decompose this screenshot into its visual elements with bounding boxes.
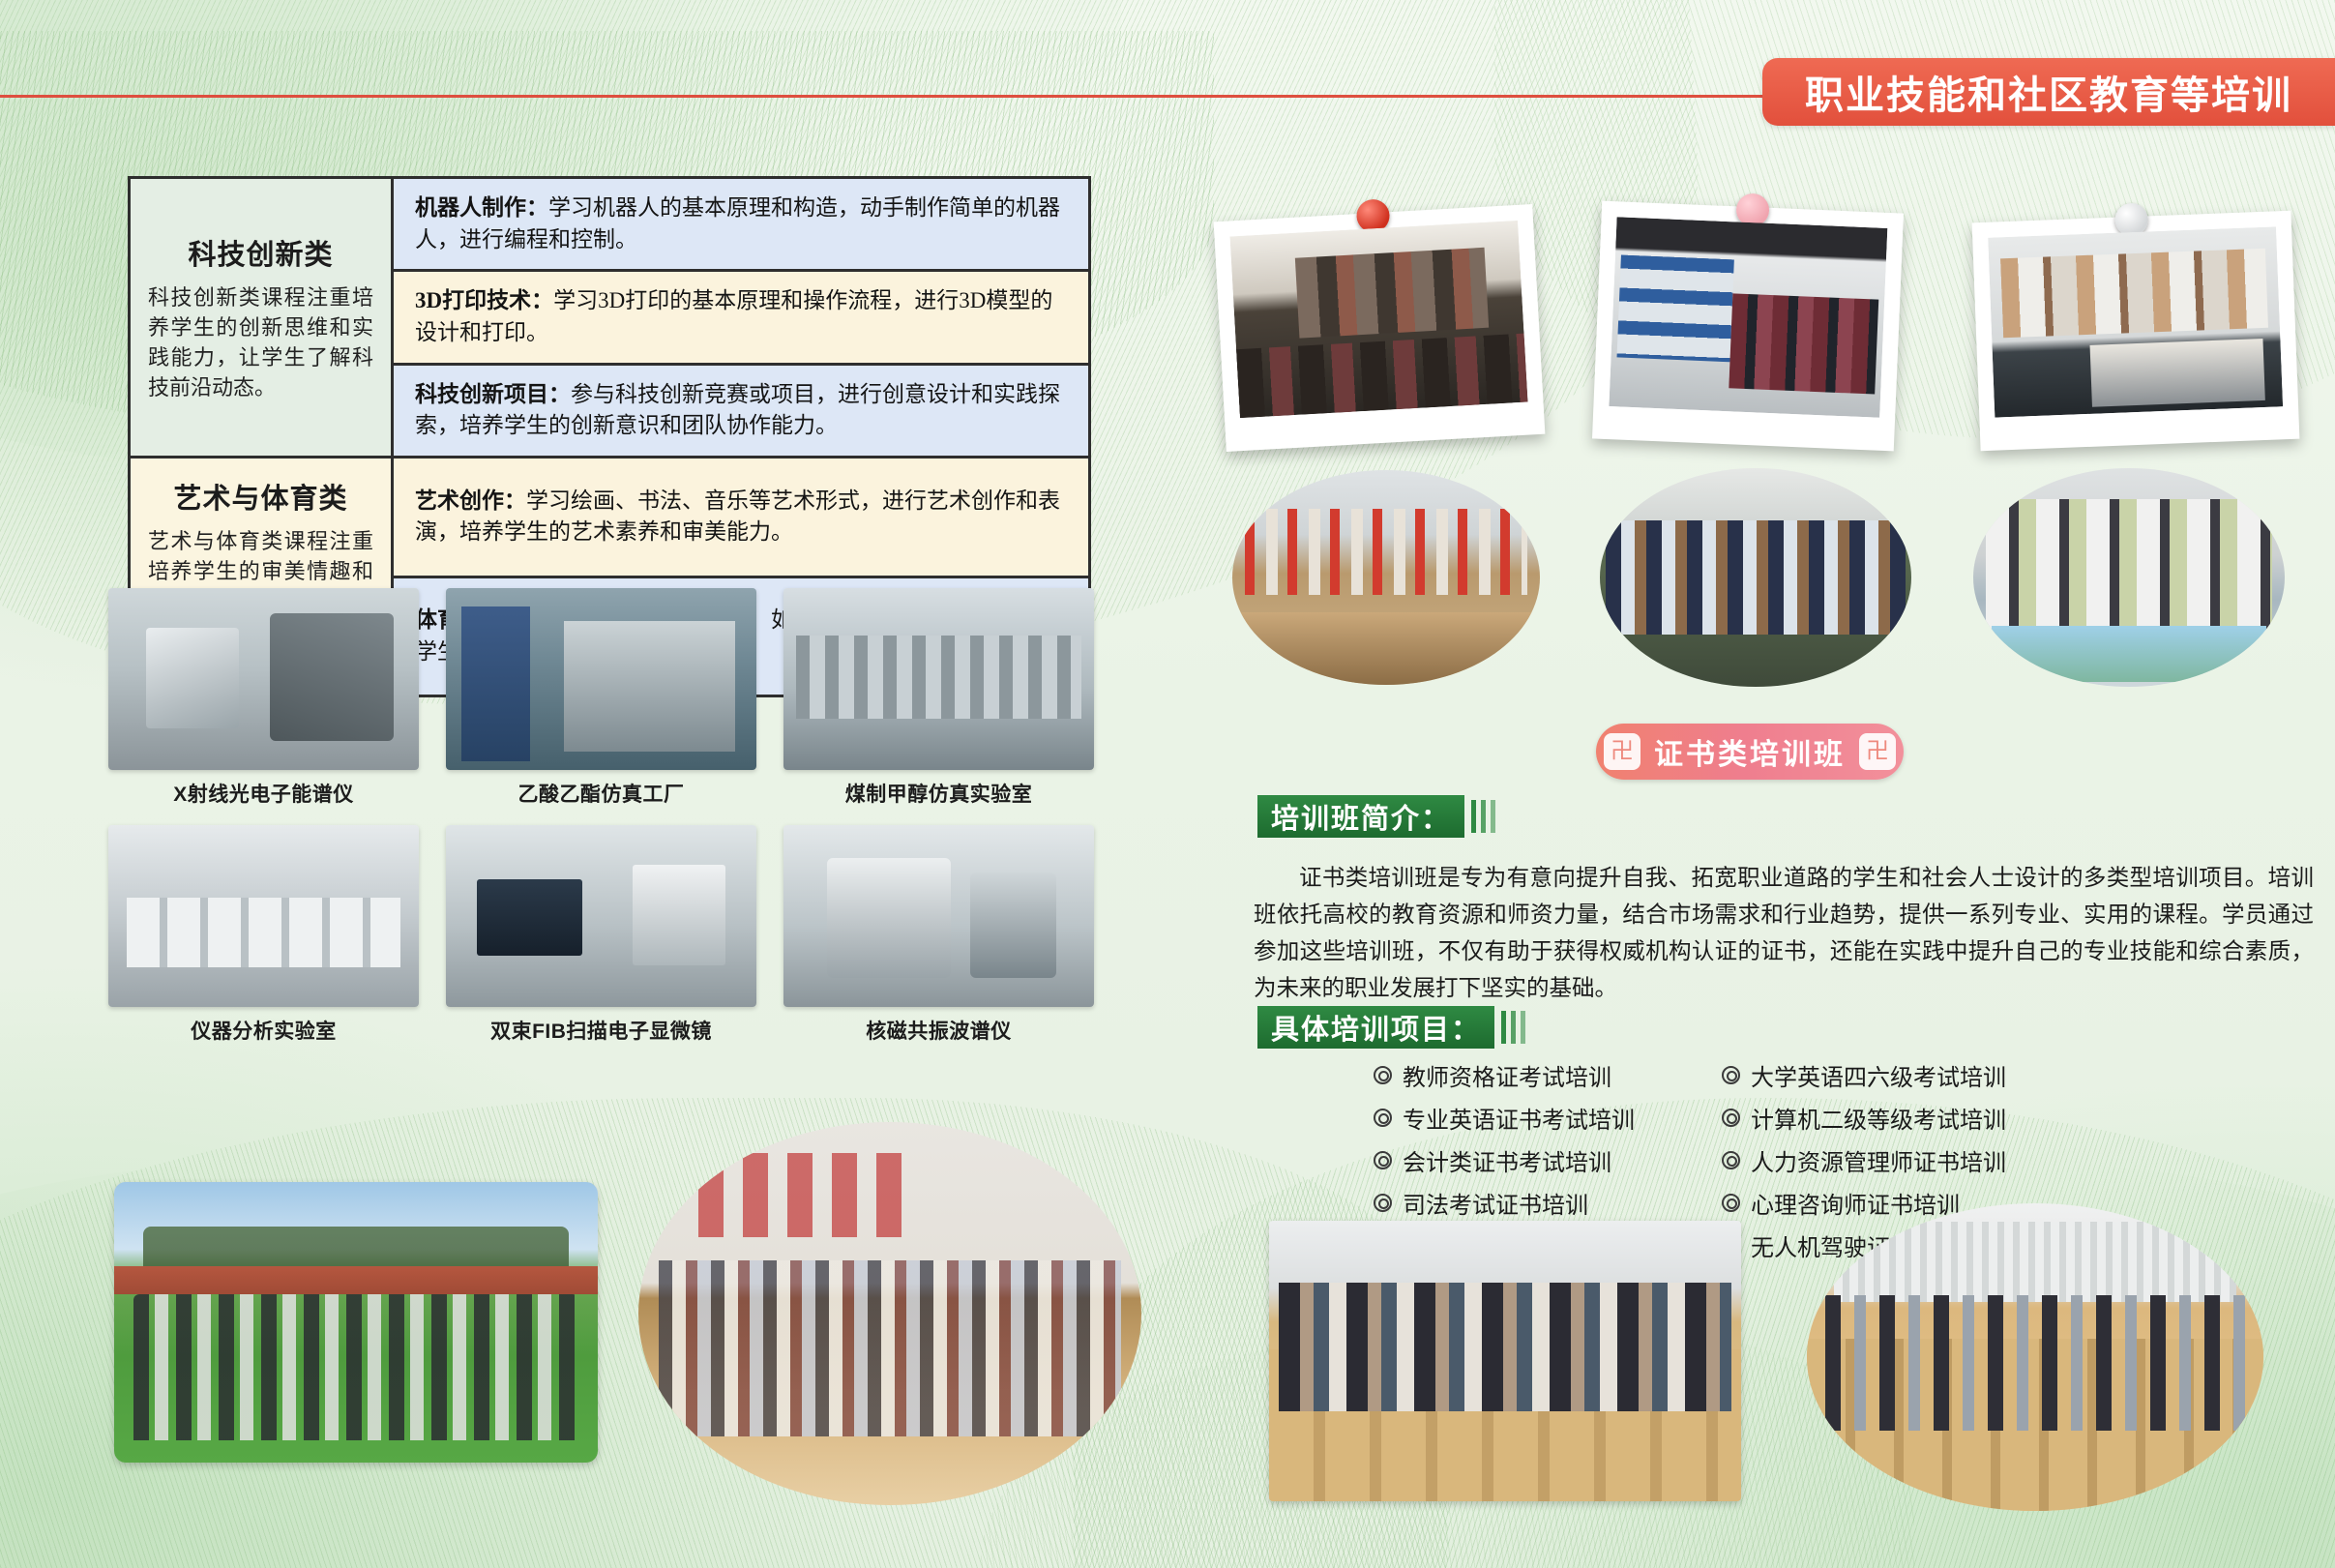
double-circle-bullet-icon — [1722, 1109, 1740, 1127]
list-item-label: 专业英语证书考试培训 — [1403, 1101, 1635, 1135]
lab-photo-caption: 煤制甲醇仿真实验室 — [783, 779, 1094, 808]
oval-art-painting-workshop — [1973, 468, 2285, 687]
lab-photo-caption: 乙酸乙酯仿真工厂 — [446, 779, 756, 808]
ornament-left-icon: 卍 — [1604, 733, 1640, 770]
lab-gallery-cell: 仪器分析实验室 — [108, 825, 419, 1045]
heading-bars-icon — [1501, 1006, 1525, 1049]
activity-oval-photo-row — [1230, 466, 2323, 691]
list-item: 教师资格证考试培训 — [1374, 1058, 1702, 1092]
item-title: 3D打印技术： — [415, 288, 553, 312]
section-heading-label: 培训班简介： — [1257, 795, 1464, 838]
lab-gallery-cell: 双束FIB扫描电子显微镜 — [446, 825, 756, 1045]
oval-paper-cutting-classroom — [1232, 470, 1540, 685]
lab-photo-ethyl-acetate — [446, 588, 756, 770]
exam-room-wide-shot-photo — [1807, 1203, 2263, 1511]
item-title: 机器人制作： — [415, 195, 548, 220]
lab-photo-fib-sem — [446, 825, 756, 1007]
list-item: 司法考试证书培训 — [1374, 1186, 1702, 1220]
intro-paragraph: 证书类培训班是专为有意向提升自我、拓宽职业道路的学生和社会人士设计的多类型培训项… — [1254, 859, 2314, 1006]
table-row: 3D打印技术：学习3D打印的基本原理和操作流程，进行3D模型的设计和打印。 — [394, 272, 1088, 365]
lab-photo-xps — [108, 588, 419, 770]
polaroid-photo-strip — [1214, 190, 2326, 460]
double-circle-bullet-icon — [1374, 1109, 1392, 1127]
lab-photo-instrument-analysis — [108, 825, 419, 1007]
oval-teacher-guiding-students — [1600, 468, 1911, 687]
lab-gallery-row: 仪器分析实验室 双束FIB扫描电子显微镜 核磁共振波谱仪 — [108, 825, 1095, 1045]
page-header: 职业技能和社区教育等培训 — [0, 58, 2335, 132]
lab-photo-caption: X射线光电子能谱仪 — [108, 779, 419, 808]
category-cell-tech: 科技创新类 科技创新类课程注重培养学生的创新思维和实践能力，让学生了解科技前沿动… — [131, 179, 394, 459]
lab-gallery-cell: 核磁共振波谱仪 — [783, 825, 1094, 1045]
polaroid-print-making-gallery — [1972, 211, 2300, 451]
category-description: 科技创新类课程注重培养学生的创新思维和实践能力，让学生了解科技前沿动态。 — [144, 282, 377, 403]
item-title: 科技创新项目： — [415, 382, 571, 406]
lab-gallery-cell: 乙酸乙酯仿真工厂 — [446, 588, 756, 808]
lab-gallery-cell: 煤制甲醇仿真实验室 — [783, 588, 1094, 808]
table-row: 科技创新项目：参与科技创新竞赛或项目，进行创意设计和实践探索，培养学生的创新意识… — [394, 366, 1088, 459]
table-row: 机器人制作：学习机器人的基本原理和构造，动手制作简单的机器人，进行编程和控制。 — [394, 179, 1088, 272]
double-circle-bullet-icon — [1374, 1066, 1392, 1084]
list-item: 人力资源管理师证书培训 — [1722, 1143, 2302, 1177]
lab-equipment-gallery: X射线光电子能谱仪 乙酸乙酯仿真工厂 煤制甲醇仿真实验室 仪器分析实验室 双束F… — [108, 588, 1095, 1045]
section-heading-intro: 培训班简介： — [1257, 795, 1495, 838]
category-title: 科技创新类 — [144, 232, 377, 273]
category-title: 艺术与体育类 — [144, 476, 377, 517]
page-title: 职业技能和社区教育等培训 — [1805, 64, 2292, 120]
table-row: 艺术创作：学习绘画、书法、音乐等艺术形式，进行艺术创作和表演，培养学生的艺术素养… — [394, 459, 1088, 578]
lab-photo-nmr — [783, 825, 1094, 1007]
list-item-label: 计算机二级等级考试培训 — [1751, 1101, 2006, 1135]
polaroid-exhibition-hall-visit — [1214, 204, 1546, 452]
list-item-label: 大学英语四六级考试培训 — [1751, 1058, 2006, 1092]
item-title: 艺术创作： — [415, 488, 526, 513]
double-circle-bullet-icon — [1374, 1194, 1392, 1212]
lab-gallery-row: X射线光电子能谱仪 乙酸乙酯仿真工厂 煤制甲醇仿真实验室 — [108, 588, 1095, 808]
list-item: 计算机二级等级考试培训 — [1722, 1101, 2302, 1135]
lecture-hall-attendees-photo — [1269, 1221, 1741, 1501]
double-circle-bullet-icon — [1722, 1151, 1740, 1169]
badge-label: 证书类培训班 — [1654, 730, 1846, 773]
list-item-label: 会计类证书考试培训 — [1403, 1143, 1611, 1177]
double-circle-bullet-icon — [1374, 1151, 1392, 1169]
gymnasium-award-group-photo — [638, 1122, 1141, 1505]
lab-photo-methanol — [783, 588, 1094, 770]
soccer-field-group-photo — [114, 1182, 598, 1463]
list-item-label: 教师资格证考试培训 — [1403, 1058, 1611, 1092]
lab-photo-caption: 仪器分析实验室 — [108, 1016, 419, 1045]
lab-photo-caption: 核磁共振波谱仪 — [783, 1016, 1094, 1045]
list-item-label: 司法考试证书培训 — [1403, 1186, 1588, 1220]
double-circle-bullet-icon — [1722, 1194, 1740, 1212]
double-circle-bullet-icon — [1722, 1066, 1740, 1084]
list-item: 专业英语证书考试培训 — [1374, 1101, 1702, 1135]
list-item: 大学英语四六级考试培训 — [1722, 1058, 2302, 1092]
list-item-label: 人力资源管理师证书培训 — [1751, 1143, 2006, 1177]
header-title-pill: 职业技能和社区教育等培训 — [1762, 58, 2335, 126]
section-heading-label: 具体培训项目： — [1257, 1006, 1494, 1049]
heading-bars-icon — [1471, 795, 1495, 838]
section-heading-items: 具体培训项目： — [1257, 1006, 1525, 1049]
list-item: 会计类证书考试培训 — [1374, 1143, 1702, 1177]
lab-photo-caption: 双束FIB扫描电子显微镜 — [446, 1016, 756, 1045]
lab-gallery-cell: X射线光电子能谱仪 — [108, 588, 419, 808]
certificate-training-badge: 卍 证书类培训班 卍 — [1596, 724, 1904, 780]
ornament-right-icon: 卍 — [1859, 733, 1896, 770]
polaroid-museum-corridor-tour — [1592, 201, 1904, 452]
